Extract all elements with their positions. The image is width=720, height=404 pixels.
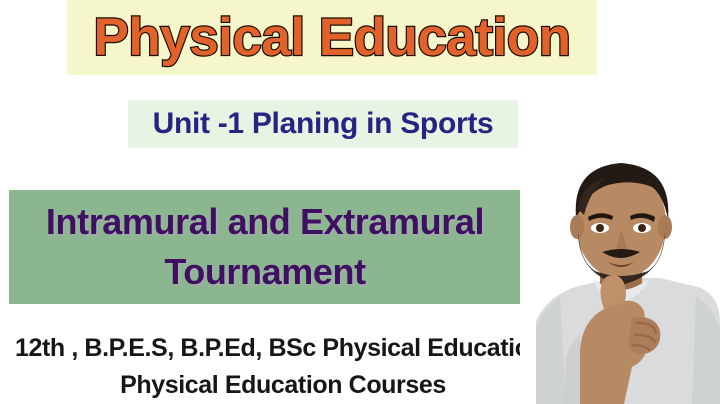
subtitle: Unit -1 Planing in Sports <box>128 100 518 148</box>
headline-line-2: Tournament <box>164 247 365 297</box>
headline-text: Intramural and Extramural Tournament <box>9 190 521 304</box>
page-title: Physical Education <box>67 2 597 74</box>
thumbnail-canvas: Physical Education Unit -1 Planing in Sp… <box>0 0 720 404</box>
caption-line-1: 12th , B.P.E.S, B.P.Ed, BSc Physical Edu… <box>0 330 566 367</box>
caption-text: 12th , B.P.E.S, B.P.Ed, BSc Physical Edu… <box>0 330 566 404</box>
caption-line-2: Physical Education Courses <box>0 367 566 404</box>
headline-line-1: Intramural and Extramural <box>46 197 484 247</box>
person-photo <box>520 145 720 404</box>
